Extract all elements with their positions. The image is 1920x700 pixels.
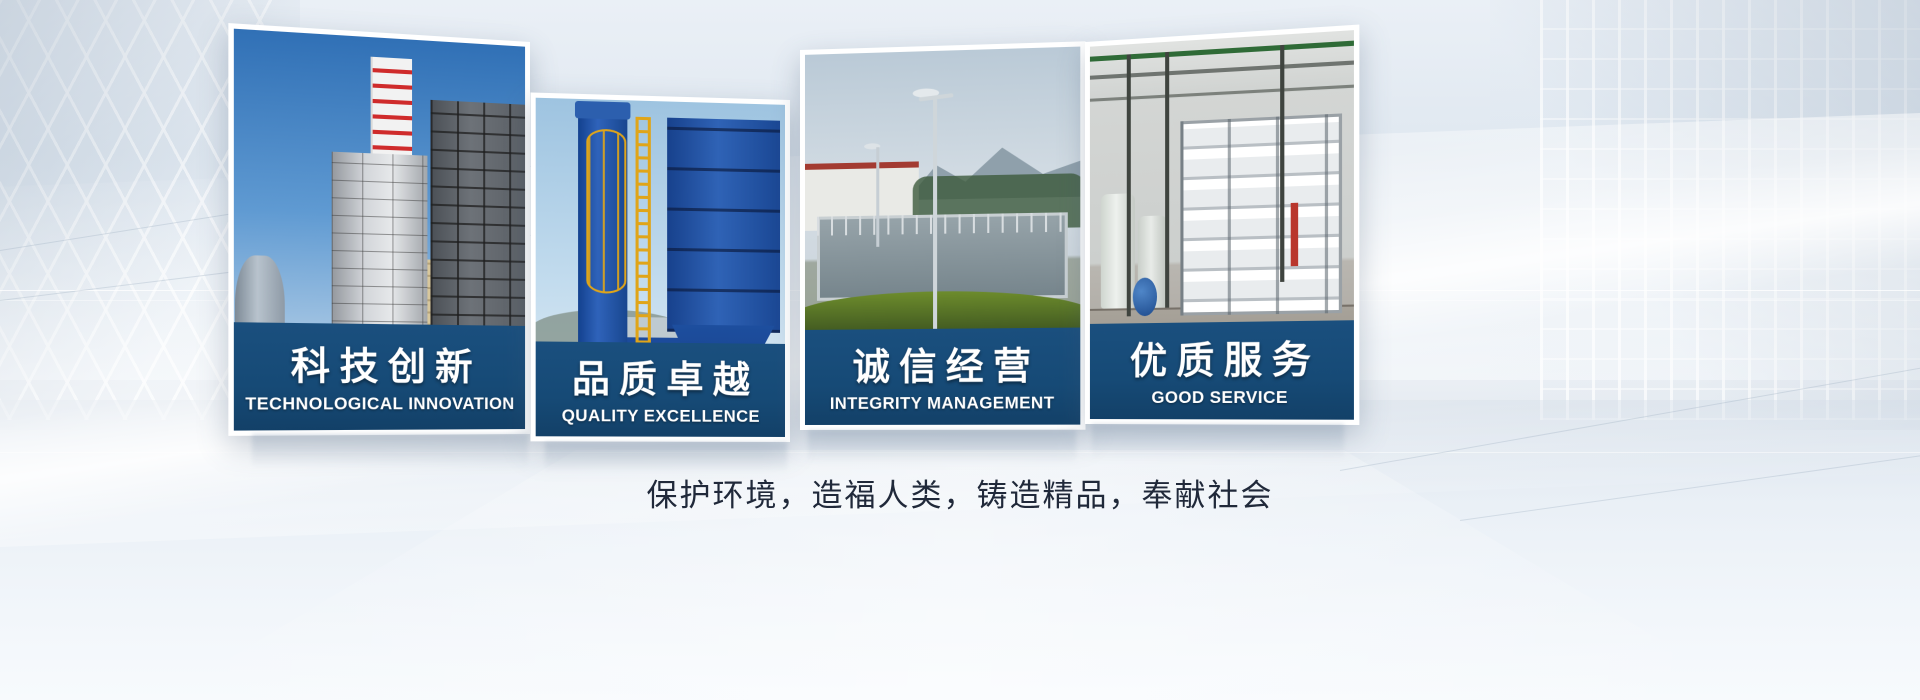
panel-caption: 品质卓越 QUALITY EXCELLENCE [530,341,790,442]
panel-title-en: QUALITY EXCELLENCE [562,407,760,426]
panel-title-en: INTEGRITY MANAGEMENT [830,394,1055,413]
feature-panel-good-service[interactable]: 优质服务 GOOD SERVICE [1085,25,1359,425]
banner-tagline: 保护环境，造福人类，铸造精品，奉献社会 [0,470,1920,515]
panel-title-cn: 诚信经营 [844,345,1041,389]
panel-reflection-3 [808,430,1076,474]
panel-title-cn: 优质服务 [1121,339,1321,384]
feature-panel-quality-excellence[interactable]: 品质卓越 QUALITY EXCELLENCE [530,92,790,442]
panel-title-en: TECHNOLOGICAL INNOVATION [245,395,514,414]
panel-caption: 优质服务 GOOD SERVICE [1085,320,1359,425]
panel-title-en: GOOD SERVICE [1151,388,1288,407]
panel-reflection-4 [1092,424,1344,470]
feature-panel-group: 科技创新 TECHNOLOGICAL INNOVATION 品质卓越 [0,0,1920,700]
banner-stage: 科技创新 TECHNOLOGICAL INNOVATION 品质卓越 [0,0,1920,700]
feature-panel-integrity-management[interactable]: 诚信经营 INTEGRITY MANAGEMENT [800,41,1086,430]
panel-title-cn: 品质卓越 [563,358,759,402]
feature-panel-technological-innovation[interactable]: 科技创新 TECHNOLOGICAL INNOVATION [228,23,530,436]
panel-title-cn: 科技创新 [281,345,482,390]
panel-caption: 科技创新 TECHNOLOGICAL INNOVATION [228,322,530,436]
panel-caption: 诚信经营 INTEGRITY MANAGEMENT [800,328,1086,430]
